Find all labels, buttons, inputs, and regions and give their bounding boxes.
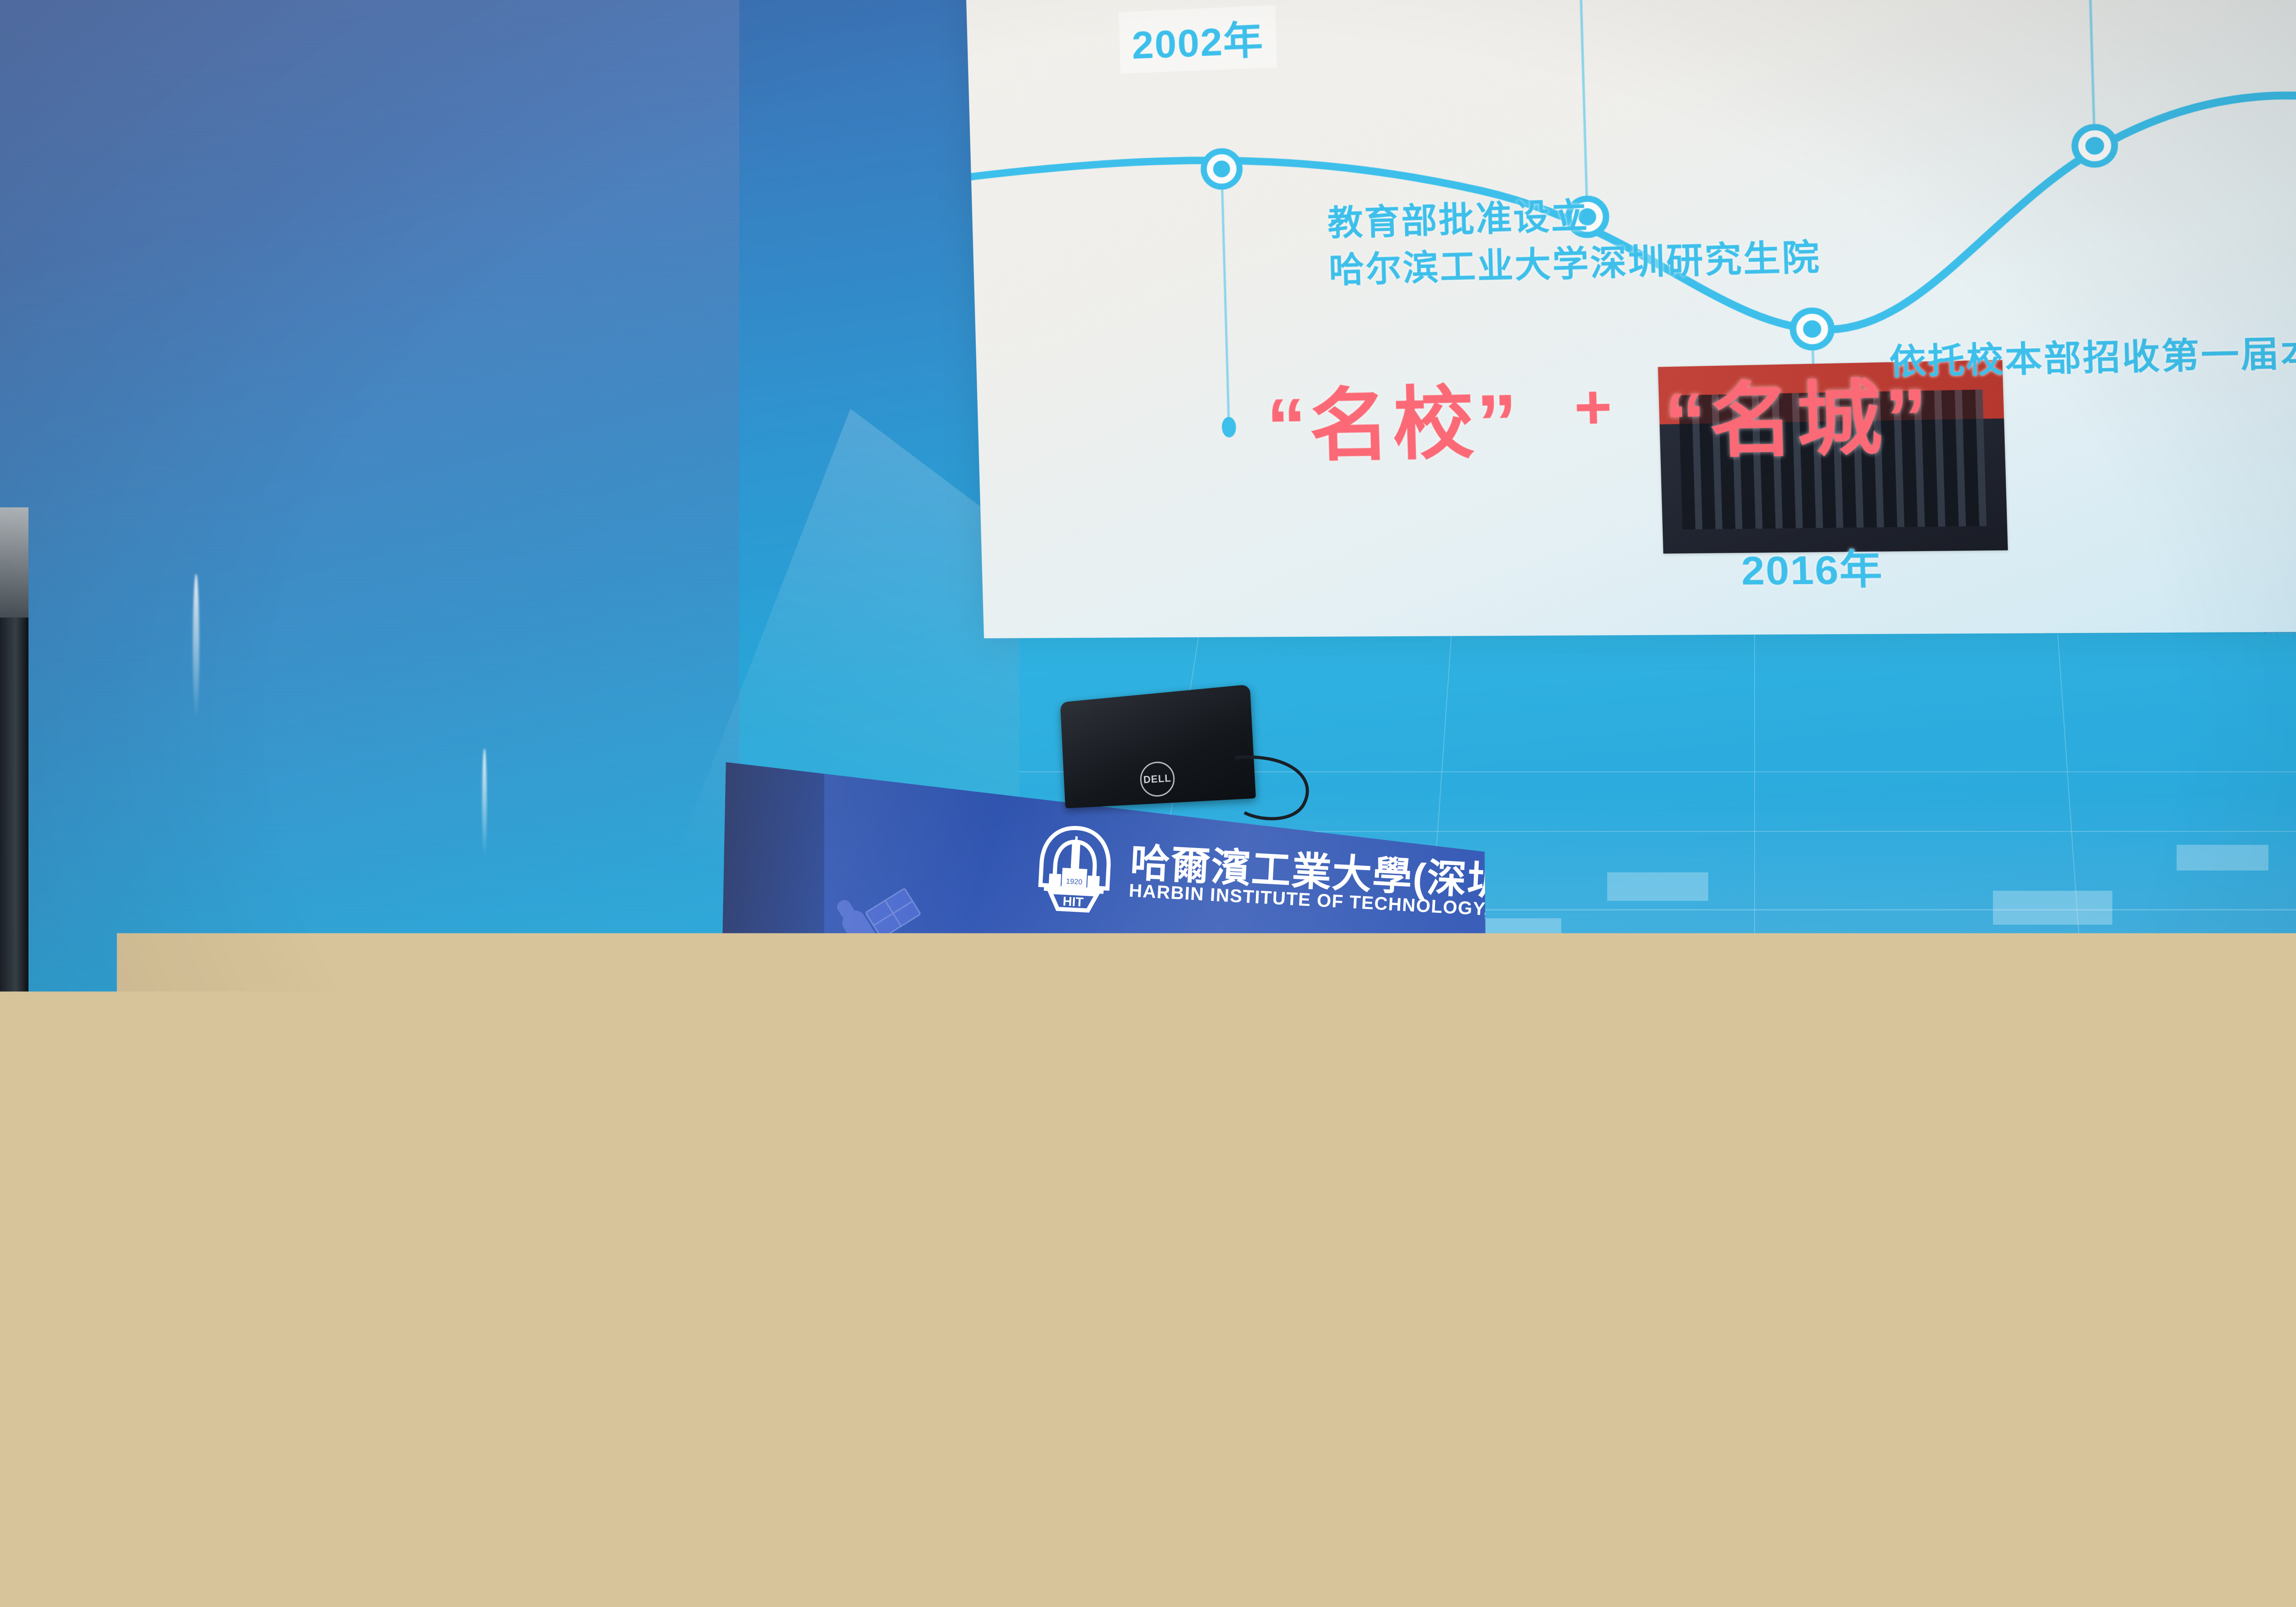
slide-headline-left: “名校” bbox=[1265, 358, 1522, 477]
presenter-person bbox=[643, 372, 1056, 877]
gooseneck-microphone bbox=[923, 634, 987, 826]
dell-laptop[interactable]: DELL bbox=[1060, 684, 1256, 808]
timeline-year-2002: 2002年 bbox=[1119, 5, 1277, 73]
presenter-head bbox=[735, 367, 955, 583]
floor-socket-box-1[interactable] bbox=[1768, 1526, 1825, 1566]
mic-capsule bbox=[936, 634, 975, 680]
timeline-caption-2016: 依托校本部招收第一届本科生 bbox=[1889, 321, 2296, 384]
floor-socket-box-2[interactable] bbox=[1830, 1509, 1896, 1558]
backdrop-left-frame-highlight bbox=[0, 507, 28, 618]
mic-stem bbox=[937, 678, 958, 830]
slide-headline-right: “名城” bbox=[1663, 352, 1933, 474]
timeline-year-2016: 2016年 bbox=[1740, 537, 1884, 596]
presenter-suit bbox=[625, 523, 1088, 937]
wall-outlet-2[interactable] bbox=[1967, 1124, 1998, 1164]
wall-outlet-1[interactable] bbox=[1911, 1125, 1942, 1165]
dell-logo-text: DELL bbox=[1141, 772, 1173, 786]
laptop-cable bbox=[1231, 753, 1368, 826]
presentation-slide: 2002年 2014年 2016年 2020年 2022年 教育部批准设立 哈尔… bbox=[963, 0, 2296, 638]
slide-headline-operator: + bbox=[1573, 371, 1613, 443]
timeline-curve bbox=[963, 0, 2296, 638]
photo-scene: 2002年 2014年 2016年 2020年 2022年 教育部批准设立 哈尔… bbox=[0, 0, 2296, 1607]
